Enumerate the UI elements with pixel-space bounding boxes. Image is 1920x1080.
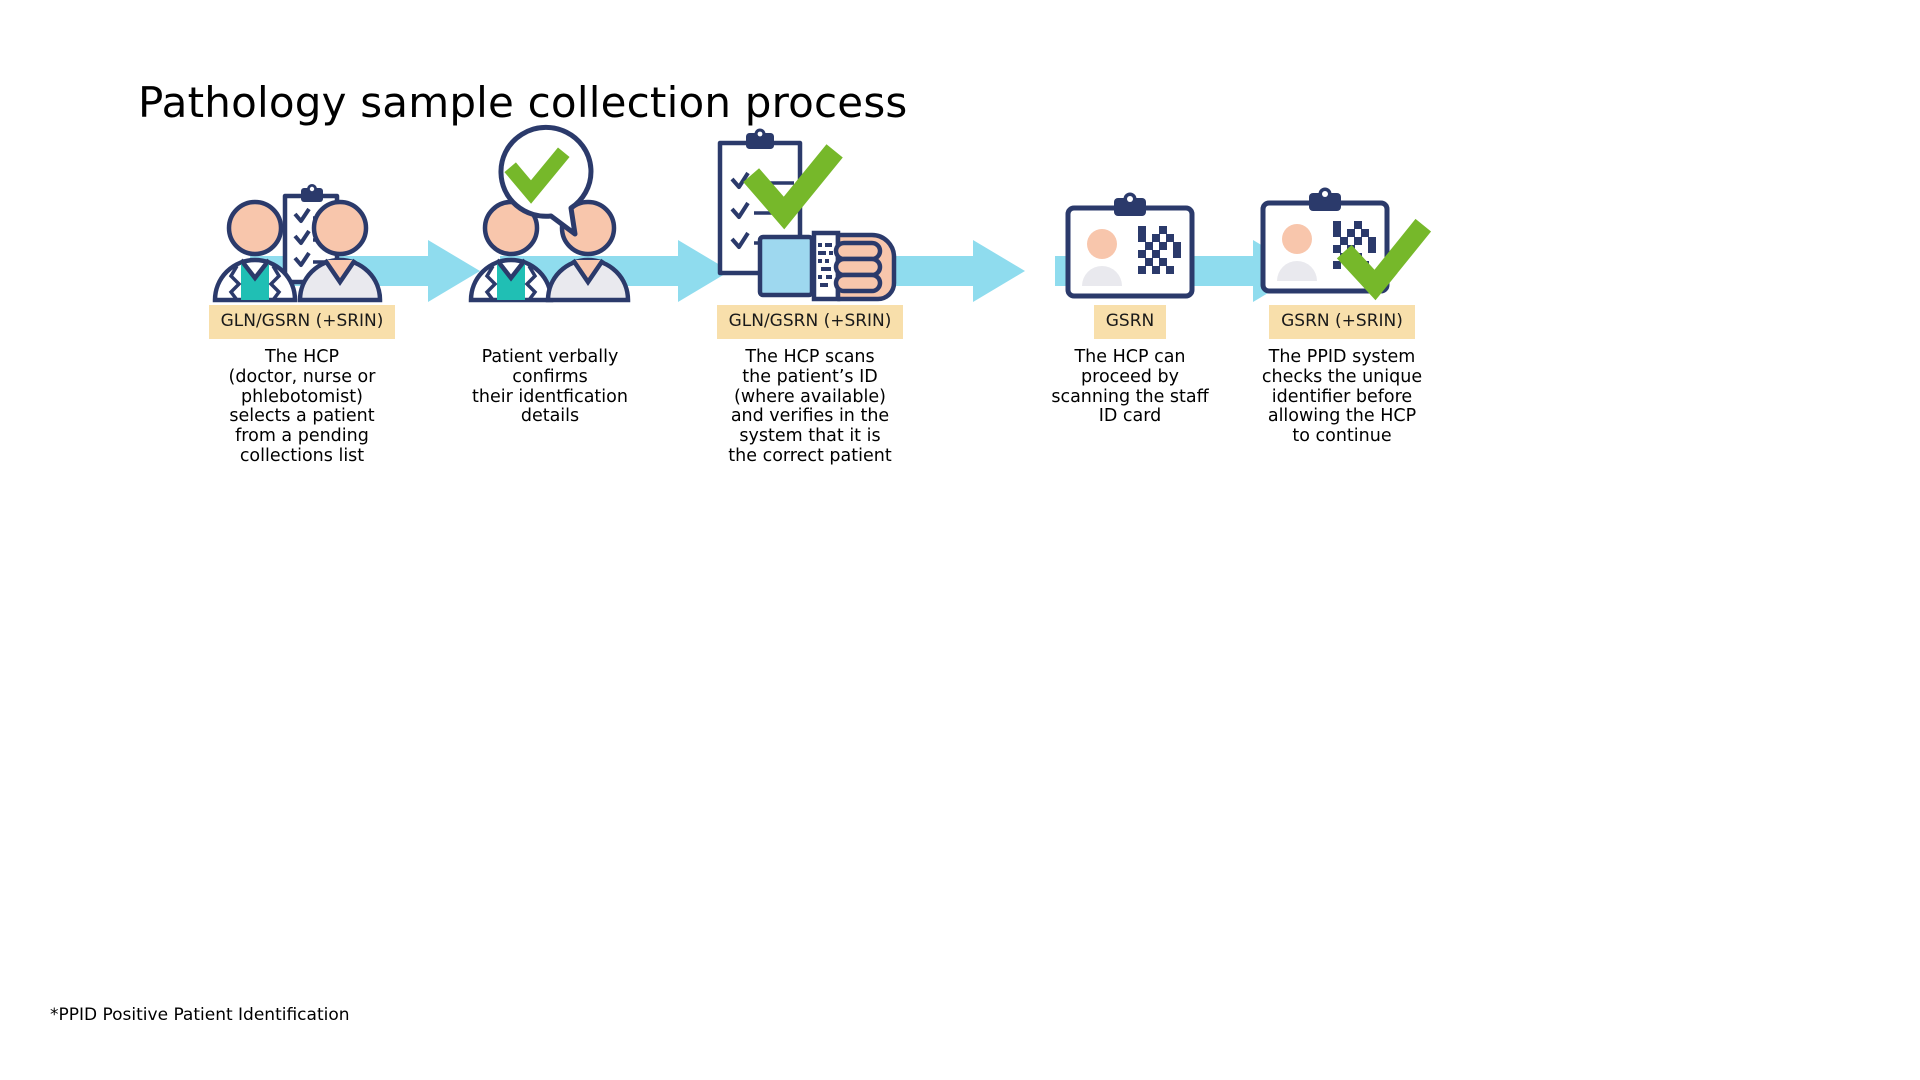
step-description: The HCP scans the patient’s ID (where av… — [690, 344, 930, 467]
step-1: GLN/GSRN (+SRIN) The HCP (doctor, nurse … — [182, 140, 422, 467]
badge-row-3: GLN/GSRN (+SRIN) — [690, 300, 930, 344]
badge-row-5: GSRN (+SRIN) — [1222, 300, 1462, 344]
standard-badge: GLN/GSRN (+SRIN) — [717, 305, 904, 339]
id-card-verified-icon — [1222, 140, 1462, 300]
step-3: GLN/GSRN (+SRIN) The HCP scans the patie… — [690, 140, 930, 467]
process-flow: GLN/GSRN (+SRIN) The HCP (doctor, nurse … — [0, 140, 1920, 580]
standard-badge: GSRN (+SRIN) — [1269, 305, 1415, 339]
step-description: The HCP (doctor, nurse or phlebotomist) … — [182, 344, 422, 467]
two-people-clipboard-icon — [182, 140, 422, 300]
standard-badge: GLN/GSRN (+SRIN) — [209, 305, 396, 339]
clipboard-scan-wristband-icon — [690, 140, 930, 300]
step-4: GSRN The HCP can proceed by scanning the… — [1010, 140, 1250, 427]
step-description: The HCP can proceed by scanning the staf… — [1010, 344, 1250, 427]
staff-id-card-icon — [1010, 140, 1250, 300]
step-description: The PPID system checks the unique identi… — [1222, 344, 1462, 447]
two-people-speech-check-icon — [430, 140, 670, 300]
footnote: *PPID Positive Patient Identification — [50, 1005, 350, 1025]
step-description: Patient verbally confirms their identfic… — [430, 344, 670, 427]
page-title: Pathology sample collection process — [138, 78, 908, 127]
badge-row-2 — [430, 300, 670, 344]
standard-badge — [538, 314, 562, 331]
standard-badge: GSRN — [1094, 305, 1167, 339]
badge-row-1: GLN/GSRN (+SRIN) — [182, 300, 422, 344]
badge-row-4: GSRN — [1010, 300, 1250, 344]
step-2: Patient verbally confirms their identfic… — [430, 140, 670, 427]
step-5: GSRN (+SRIN) The PPID system checks the … — [1222, 140, 1462, 447]
